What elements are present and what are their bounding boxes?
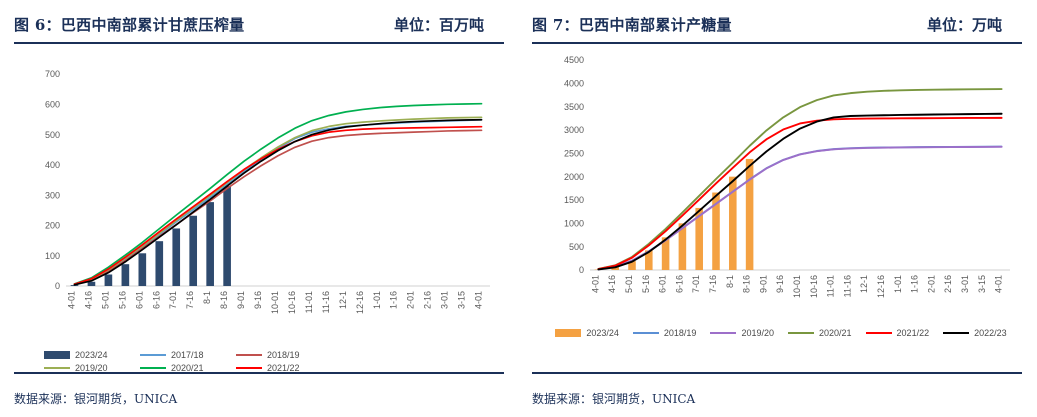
- svg-text:12-16: 12-16: [355, 291, 365, 314]
- svg-text:12-1: 12-1: [338, 291, 348, 309]
- svg-text:1-01: 1-01: [372, 291, 382, 309]
- svg-text:6-01: 6-01: [658, 275, 668, 293]
- svg-text:10-16: 10-16: [809, 275, 819, 298]
- svg-text:6-16: 6-16: [674, 275, 684, 293]
- legend-label: 2022/23: [974, 328, 1007, 338]
- legend-swatch-icon: [555, 329, 581, 337]
- legend-item-2023-24[interactable]: 2023/24: [555, 328, 619, 338]
- svg-text:3-15: 3-15: [977, 275, 987, 293]
- svg-text:10-01: 10-01: [792, 275, 802, 298]
- figure-footer-fig7: 数据来源：银河期货，UNICA: [532, 372, 1022, 407]
- legend-swatch-icon: [236, 367, 262, 369]
- legend-item-2018-19[interactable]: 2018/19: [633, 328, 697, 338]
- svg-text:500: 500: [569, 242, 584, 252]
- svg-text:10-16: 10-16: [287, 291, 297, 314]
- legend-swatch-icon: [633, 332, 659, 334]
- legend-item-2017-18[interactable]: 2017/18: [140, 350, 236, 360]
- legend-item-2019-20[interactable]: 2019/20: [710, 328, 774, 338]
- svg-text:7-16: 7-16: [185, 291, 195, 309]
- svg-text:3-15: 3-15: [457, 291, 467, 309]
- svg-text:3-01: 3-01: [960, 275, 970, 293]
- svg-text:11-01: 11-01: [304, 291, 314, 313]
- svg-text:2-16: 2-16: [943, 275, 953, 293]
- legend-label: 2023/24: [75, 350, 108, 360]
- svg-text:1500: 1500: [564, 195, 584, 205]
- chart-svg-fig6: 01002003004005006007004-014-165-015-166-…: [14, 50, 504, 350]
- svg-text:600: 600: [45, 99, 60, 109]
- figure-unit-fig7: 单位：万吨: [927, 14, 1002, 35]
- svg-text:0: 0: [579, 265, 584, 275]
- svg-text:6-16: 6-16: [151, 291, 161, 309]
- svg-text:4-01: 4-01: [590, 275, 600, 293]
- svg-text:200: 200: [45, 221, 60, 231]
- svg-text:1-16: 1-16: [389, 291, 399, 309]
- chart-area-fig7: 0500100015002000250030003500400045004-01…: [532, 50, 1022, 328]
- legend-swatch-icon: [44, 351, 70, 359]
- svg-text:100: 100: [45, 251, 60, 261]
- legend-item-2022-23[interactable]: 2022/23: [943, 328, 1007, 338]
- legend-swatch-icon: [140, 367, 166, 369]
- svg-text:2000: 2000: [564, 172, 584, 182]
- figure-panel-fig7: 图 7：巴西中南部累计产糖量 单位：万吨 0500100015002000250…: [518, 0, 1036, 417]
- figure-title-fig7: 图 7：巴西中南部累计产糖量: [532, 14, 732, 35]
- legend-label: 2020/21: [819, 328, 852, 338]
- data-source-fig7: 数据来源：银河期货，UNICA: [532, 390, 1022, 407]
- svg-text:5-16: 5-16: [641, 275, 651, 293]
- svg-text:2500: 2500: [564, 149, 584, 159]
- svg-text:9-01: 9-01: [758, 275, 768, 293]
- svg-text:400: 400: [45, 160, 60, 170]
- footer-divider-fig7: [532, 372, 1022, 374]
- legend-item-2023-24[interactable]: 2023/24: [44, 350, 140, 360]
- report-figures-page: 图 6：巴西中南部累计甘蔗压榨量 单位：百万吨 0100200300400500…: [0, 0, 1037, 417]
- svg-text:8-1: 8-1: [202, 291, 212, 304]
- svg-text:1-16: 1-16: [910, 275, 920, 293]
- svg-text:700: 700: [45, 69, 60, 79]
- svg-text:5-16: 5-16: [117, 291, 127, 309]
- svg-text:7-01: 7-01: [168, 291, 178, 309]
- chart-area-fig6: 01002003004005006007004-014-165-015-166-…: [14, 50, 504, 350]
- legend-label: 2018/19: [267, 350, 300, 360]
- figure-unit-fig6: 单位：百万吨: [394, 14, 484, 35]
- figure-panel-fig6: 图 6：巴西中南部累计甘蔗压榨量 单位：百万吨 0100200300400500…: [0, 0, 518, 417]
- svg-text:8-16: 8-16: [219, 291, 229, 309]
- legend-item-2020-21[interactable]: 2020/21: [788, 328, 852, 338]
- legend-label: 2017/18: [171, 350, 204, 360]
- svg-text:2-16: 2-16: [423, 291, 433, 309]
- footer-divider-fig6: [14, 372, 504, 374]
- svg-text:4-01: 4-01: [474, 291, 484, 309]
- legend-item-2021-22[interactable]: 2021/22: [866, 328, 930, 338]
- legend-swatch-icon: [710, 332, 736, 334]
- svg-text:4000: 4000: [564, 79, 584, 89]
- legend-swatch-icon: [788, 332, 814, 334]
- svg-text:500: 500: [45, 130, 60, 140]
- svg-text:4-16: 4-16: [607, 275, 617, 293]
- svg-text:10-01: 10-01: [270, 291, 280, 314]
- svg-text:7-01: 7-01: [691, 275, 701, 293]
- legend-item-2018-19[interactable]: 2018/19: [236, 350, 332, 360]
- header-divider-fig7: [532, 42, 1022, 44]
- svg-text:8-1: 8-1: [725, 275, 735, 288]
- data-source-fig6: 数据来源：银河期货，UNICA: [14, 390, 504, 407]
- svg-text:3-01: 3-01: [440, 291, 450, 309]
- svg-text:6-01: 6-01: [134, 291, 144, 309]
- svg-text:12-16: 12-16: [876, 275, 886, 298]
- chart-svg-fig7: 0500100015002000250030003500400045004-01…: [532, 50, 1022, 328]
- chart-legend-fig7: 2023/242018/192019/202020/212021/222022/…: [532, 328, 1022, 338]
- svg-text:9-16: 9-16: [775, 275, 785, 293]
- svg-text:5-01: 5-01: [624, 275, 634, 293]
- svg-text:2-01: 2-01: [406, 291, 416, 309]
- legend-label: 2019/20: [741, 328, 774, 338]
- svg-text:8-16: 8-16: [742, 275, 752, 293]
- svg-text:2-01: 2-01: [926, 275, 936, 293]
- legend-label: 2018/19: [664, 328, 697, 338]
- legend-swatch-icon: [866, 332, 892, 334]
- svg-text:0: 0: [55, 281, 60, 291]
- svg-text:3000: 3000: [564, 125, 584, 135]
- svg-text:1000: 1000: [564, 219, 584, 229]
- svg-text:11-16: 11-16: [842, 275, 852, 297]
- figure-title-fig6: 图 6：巴西中南部累计甘蔗压榨量: [14, 14, 244, 35]
- header-divider-fig6: [14, 42, 504, 44]
- svg-text:11-16: 11-16: [321, 291, 331, 313]
- figure-header-fig6: 图 6：巴西中南部累计甘蔗压榨量 单位：百万吨: [14, 0, 504, 35]
- legend-label: 2021/22: [897, 328, 930, 338]
- svg-text:4-01: 4-01: [994, 275, 1004, 293]
- svg-text:9-16: 9-16: [253, 291, 263, 309]
- svg-text:7-16: 7-16: [708, 275, 718, 293]
- legend-swatch-icon: [943, 332, 969, 334]
- legend-swatch-icon: [236, 354, 262, 356]
- figure-header-fig7: 图 7：巴西中南部累计产糖量 单位：万吨: [532, 0, 1022, 35]
- legend-label: 2023/24: [586, 328, 619, 338]
- svg-text:1-01: 1-01: [893, 275, 903, 293]
- svg-text:5-01: 5-01: [100, 291, 110, 309]
- svg-text:3500: 3500: [564, 102, 584, 112]
- figure-footer-fig6: 数据来源：银河期货，UNICA: [14, 372, 504, 407]
- svg-text:11-01: 11-01: [826, 275, 836, 297]
- svg-text:9-01: 9-01: [236, 291, 246, 309]
- svg-text:4-01: 4-01: [66, 291, 76, 309]
- svg-text:4500: 4500: [564, 55, 584, 65]
- legend-swatch-icon: [44, 367, 70, 369]
- svg-text:300: 300: [45, 190, 60, 200]
- legend-swatch-icon: [140, 354, 166, 356]
- svg-text:4-16: 4-16: [83, 291, 93, 309]
- svg-text:12-1: 12-1: [859, 275, 869, 293]
